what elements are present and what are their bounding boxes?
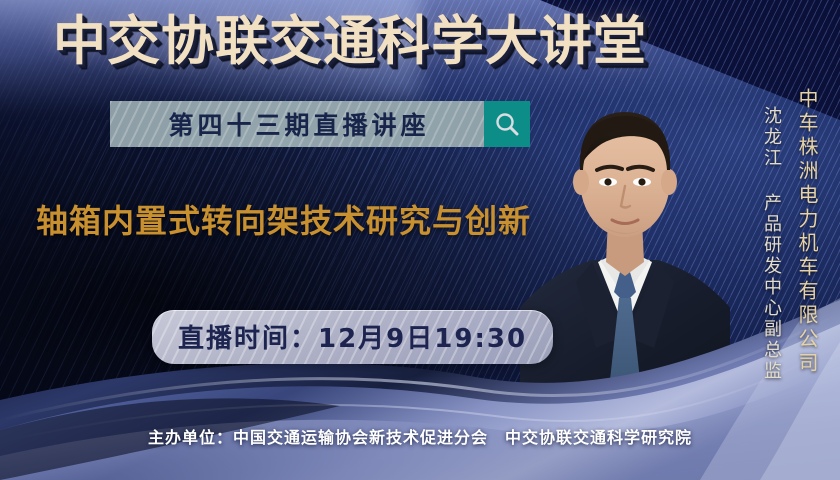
- search-icon[interactable]: [484, 101, 530, 147]
- speaker-name-title: 沈龙江 产品研发中心副总监: [758, 106, 784, 382]
- speaker-company: 中车株洲电力机车有限公司: [793, 88, 822, 376]
- live-stream-poster: 中交协联交通科学大讲堂 第四十三期直播讲座 轴箱内置式转向架技术研究与创新 直播…: [0, 0, 840, 480]
- episode-bar: 第四十三期直播讲座: [110, 101, 530, 147]
- episode-label: 第四十三期直播讲座: [164, 106, 429, 142]
- broadcast-time-pill: 直播时间：12月9日19:30: [152, 310, 553, 364]
- page-title: 中交协联交通科学大讲堂: [0, 14, 700, 70]
- episode-bar-body: 第四十三期直播讲座: [110, 101, 484, 147]
- topic-title: 轴箱内置式转向架技术研究与创新: [36, 196, 531, 242]
- broadcast-time-label: 直播时间：12月9日19:30: [178, 324, 527, 354]
- organizer-footer: 主办单位：中国交通运输协会新技术促进分会 中交协联交通科学研究院: [0, 424, 840, 448]
